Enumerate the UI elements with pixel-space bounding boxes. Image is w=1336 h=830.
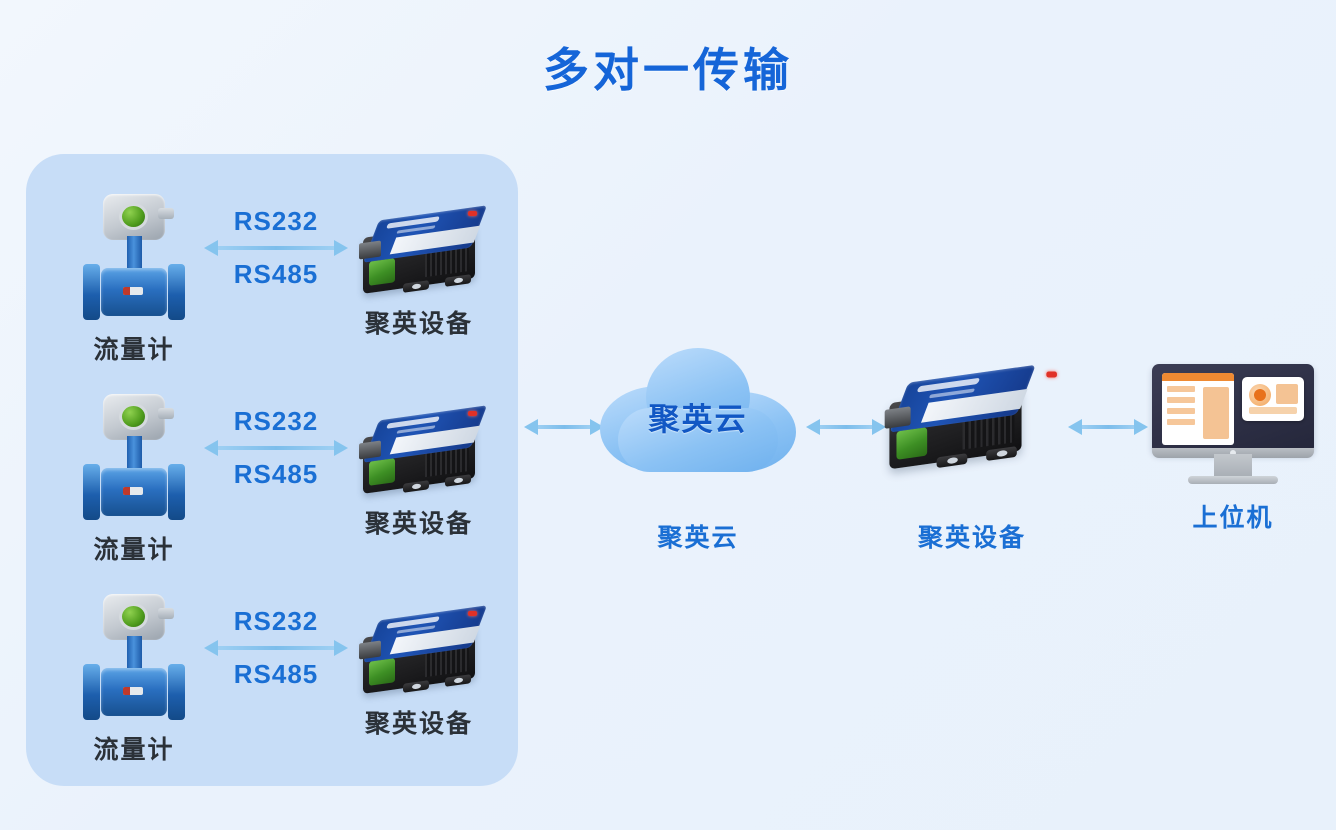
flow-meter-label: 流量计 — [64, 530, 204, 566]
group-panel: 流量计 RS232 RS485 — [26, 154, 518, 786]
cloud-icon: 聚英云 — [600, 348, 796, 472]
bidirectional-arrow-icon — [806, 418, 886, 436]
juying-device-node-1[interactable]: 聚英设备 — [344, 208, 494, 340]
juying-device-label: 聚英设备 — [344, 504, 494, 540]
arrow-panel-to-cloud — [524, 414, 604, 440]
bidirectional-arrow-icon — [204, 439, 348, 457]
host-computer-label: 上位机 — [1152, 498, 1314, 534]
juying-device-label: 聚英设备 — [344, 304, 494, 340]
flow-meter-icon — [79, 594, 189, 726]
cloud-inner-label: 聚英云 — [600, 394, 796, 439]
flow-meter-icon — [79, 394, 189, 526]
link-rs-3: RS232 RS485 — [204, 608, 348, 689]
link-upper-label: RS232 — [204, 608, 348, 635]
flow-meter-icon — [79, 194, 189, 326]
juying-device-icon — [353, 208, 485, 300]
link-upper-label: RS232 — [204, 408, 348, 435]
cloud-label: 聚英云 — [598, 518, 798, 554]
link-lower-label: RS485 — [204, 461, 348, 488]
juying-device-icon — [353, 408, 485, 500]
host-computer-node[interactable]: 上位机 — [1152, 364, 1314, 534]
link-rs-1: RS232 RS485 — [204, 208, 348, 289]
link-lower-label: RS485 — [204, 261, 348, 288]
page-title: 多对一传输 — [0, 34, 1336, 100]
sensor-row: 流量计 RS232 RS485 — [26, 184, 518, 374]
bidirectional-arrow-icon — [204, 239, 348, 257]
juying-device-node-2[interactable]: 聚英设备 — [344, 408, 494, 540]
link-upper-label: RS232 — [204, 208, 348, 235]
link-rs-2: RS232 RS485 — [204, 408, 348, 489]
juying-device-icon — [878, 368, 1067, 495]
flow-meter-label: 流量计 — [64, 330, 204, 366]
flow-meter-node-1[interactable]: 流量计 — [64, 194, 204, 366]
juying-device-node-3[interactable]: 聚英设备 — [344, 608, 494, 740]
juying-device-main-label: 聚英设备 — [892, 518, 1052, 554]
juying-device-icon — [353, 608, 485, 700]
bidirectional-arrow-icon — [1068, 418, 1148, 436]
monitor-icon — [1152, 364, 1314, 488]
juying-device-node-main[interactable]: 聚英设备 — [892, 368, 1052, 554]
bidirectional-arrow-icon — [204, 639, 348, 657]
juying-device-label: 聚英设备 — [344, 704, 494, 740]
arrow-cloud-to-device — [806, 414, 886, 440]
sensor-row: 流量计 RS232 RS485 — [26, 584, 518, 774]
sensor-row: 流量计 RS232 RS485 — [26, 384, 518, 574]
cloud-node[interactable]: 聚英云 聚英云 — [598, 348, 798, 554]
flow-meter-node-2[interactable]: 流量计 — [64, 394, 204, 566]
arrow-device-to-host — [1068, 414, 1148, 440]
flow-meter-node-3[interactable]: 流量计 — [64, 594, 204, 766]
flow-meter-label: 流量计 — [64, 730, 204, 766]
link-lower-label: RS485 — [204, 661, 348, 688]
bidirectional-arrow-icon — [524, 418, 604, 436]
